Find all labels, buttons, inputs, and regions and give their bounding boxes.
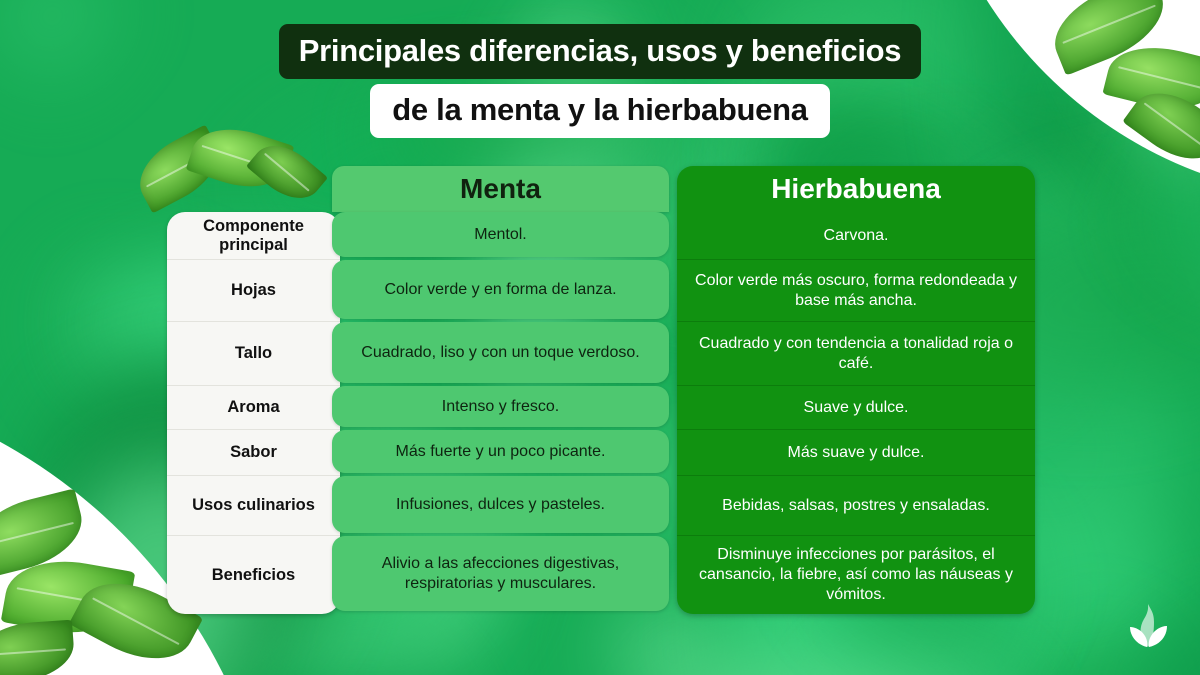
cell-text: Más suave y dulce.: [774, 443, 939, 463]
cell-text: Infusiones, dulces y pasteles.: [382, 495, 619, 515]
cell-text: Alivio a las afecciones digestivas, resp…: [332, 554, 669, 594]
table-cell-menta: Intenso y fresco.: [332, 386, 669, 427]
table-column-menta: Menta Mentol.Color verde y en forma de l…: [332, 166, 677, 614]
cell-text: Más fuerte y un poco picante.: [382, 442, 620, 462]
row-label-text: Usos culinarios: [192, 496, 315, 515]
row-label-text: Tallo: [235, 344, 272, 363]
table-row-label: Hojas: [167, 260, 340, 322]
table-cell-hierbabuena: Bebidas, salsas, postres y ensaladas.: [677, 476, 1035, 536]
table-cell-menta: Más fuerte y un poco picante.: [332, 430, 669, 473]
table-cell-hierbabuena: Cuadrado y con tendencia a tonalidad roj…: [677, 322, 1035, 386]
table-cell-menta: Mentol.: [332, 212, 669, 257]
table-row-label: Componente principal: [167, 212, 340, 260]
table-row-label: Tallo: [167, 322, 340, 386]
cell-text: Cuadrado y con tendencia a tonalidad roj…: [677, 334, 1035, 374]
column-header-hierbabuena: Hierbabuena: [677, 166, 1035, 212]
cell-text: Intenso y fresco.: [428, 397, 573, 417]
row-label-text: Hojas: [231, 281, 276, 300]
cell-text: Cuadrado, liso y con un toque verdoso.: [347, 343, 653, 363]
mint-leaf: [0, 620, 76, 675]
table-cell-hierbabuena: Suave y dulce.: [677, 386, 1035, 430]
title-line-1: Principales diferencias, usos y benefici…: [279, 24, 921, 79]
table-cell-hierbabuena: Carvona.: [677, 212, 1035, 260]
cell-text: Suave y dulce.: [790, 398, 923, 418]
cell-text: Carvona.: [810, 226, 903, 246]
cell-text: Color verde más oscuro, forma redondeada…: [677, 271, 1035, 311]
table-cell-menta: Infusiones, dulces y pasteles.: [332, 476, 669, 533]
title-line-2: de la menta y la hierbabuena: [370, 84, 829, 138]
row-label-text: Sabor: [230, 443, 277, 462]
label-column-panel: Componente principalHojasTalloAromaSabor…: [167, 212, 340, 614]
table-row-label: Aroma: [167, 386, 340, 430]
table-column-hierbabuena: Hierbabuena Carvona.Color verde más oscu…: [677, 166, 1035, 614]
leaf-vein: [0, 648, 66, 655]
table-column-labels: Componente principalHojasTalloAromaSabor…: [167, 166, 340, 614]
row-label-text: Componente principal: [167, 217, 340, 255]
table-cell-menta: Cuadrado, liso y con un toque verdoso.: [332, 322, 669, 383]
table-row-label: Beneficios: [167, 536, 340, 614]
leaf-lotus-logo: [1124, 601, 1172, 649]
table-cell-hierbabuena: Disminuye infecciones por parásitos, el …: [677, 536, 1035, 614]
cell-text: Color verde y en forma de lanza.: [370, 280, 630, 300]
table-cell-hierbabuena: Color verde más oscuro, forma redondeada…: [677, 260, 1035, 322]
cell-text: Disminuye infecciones por parásitos, el …: [677, 545, 1035, 605]
cell-text: Bebidas, salsas, postres y ensaladas.: [708, 496, 1004, 516]
row-label-text: Aroma: [227, 398, 279, 417]
row-label-text: Beneficios: [212, 566, 295, 585]
leaf-vein: [0, 522, 74, 546]
table-cell-menta: Alivio a las afecciones digestivas, resp…: [332, 536, 669, 611]
column-header-menta: Menta: [332, 166, 669, 212]
table-cell-menta: Color verde y en forma de lanza.: [332, 260, 669, 319]
table-cell-hierbabuena: Más suave y dulce.: [677, 430, 1035, 476]
table-row-label: Sabor: [167, 430, 340, 476]
cell-text: Mentol.: [460, 225, 540, 245]
table-row-label: Usos culinarios: [167, 476, 340, 536]
comparison-table: Componente principalHojasTalloAromaSabor…: [167, 166, 1035, 614]
page-title: Principales diferencias, usos y benefici…: [0, 24, 1200, 138]
